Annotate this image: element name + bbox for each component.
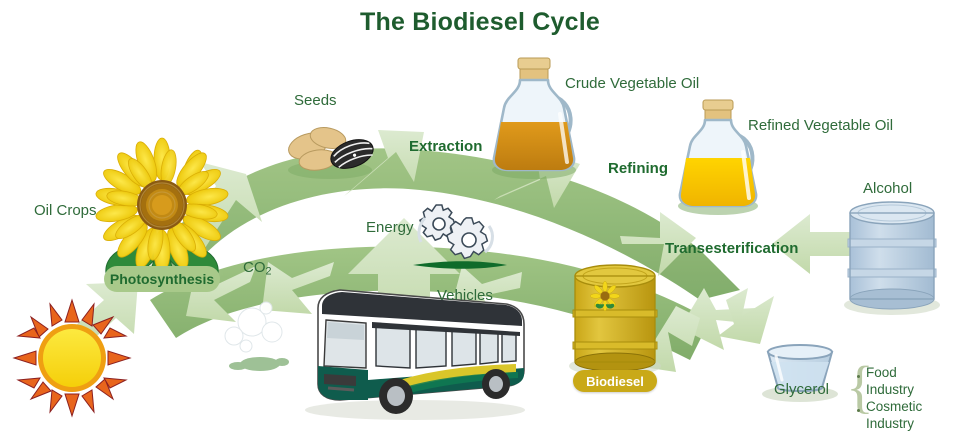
biodiesel-badge: Biodiesel [573, 370, 657, 392]
label-vehicles: Vehicles [437, 288, 493, 303]
sunflower-logo-icon [590, 281, 619, 310]
bullet-icon [857, 409, 860, 412]
photosynthesis-badge: Photosynthesis [104, 266, 220, 292]
sun-icon [14, 300, 130, 416]
diagram-canvas [0, 0, 960, 441]
biodiesel-label: Biodiesel [586, 374, 644, 389]
label-glycerol: Glycerol [774, 382, 829, 397]
bus-icon [305, 290, 525, 420]
label-refined-vegetable-oil: Refined Vegetable Oil [748, 118, 893, 133]
list-item: Industry [866, 415, 922, 432]
label-extraction: Extraction [409, 139, 482, 154]
oil-jug-icon [678, 100, 758, 215]
barrel-icon [569, 265, 661, 376]
oil-jug-icon [492, 58, 576, 179]
co2-subscript: 2 [266, 266, 272, 278]
seeds-icon [285, 124, 377, 179]
label-transesterification: Transesterification [665, 241, 798, 256]
photosynthesis-label: Photosynthesis [110, 271, 214, 287]
list-item: Cosmetic [866, 398, 922, 415]
glycerol-uses-list: Food Industry Cosmetic Industry [866, 364, 922, 432]
label-seeds: Seeds [294, 93, 337, 108]
list-item: Food [866, 364, 922, 381]
biodiesel-cycle-diagram: The Biodiesel Cycle Oil Crops Photosynth… [0, 0, 960, 441]
label-energy: Energy [366, 220, 414, 235]
label-crude-vegetable-oil: Crude Vegetable Oil [565, 76, 699, 91]
list-item: Industry [866, 381, 922, 398]
page-title: The Biodiesel Cycle [0, 8, 960, 37]
label-alcohol: Alcohol [863, 181, 912, 196]
barrel-icon [844, 202, 940, 315]
bullet-icon [857, 375, 860, 378]
label-refining: Refining [608, 161, 668, 176]
label-co2: CO2 [243, 260, 272, 277]
label-oil-crops: Oil Crops [34, 203, 97, 218]
bubbles-icon [225, 302, 289, 371]
